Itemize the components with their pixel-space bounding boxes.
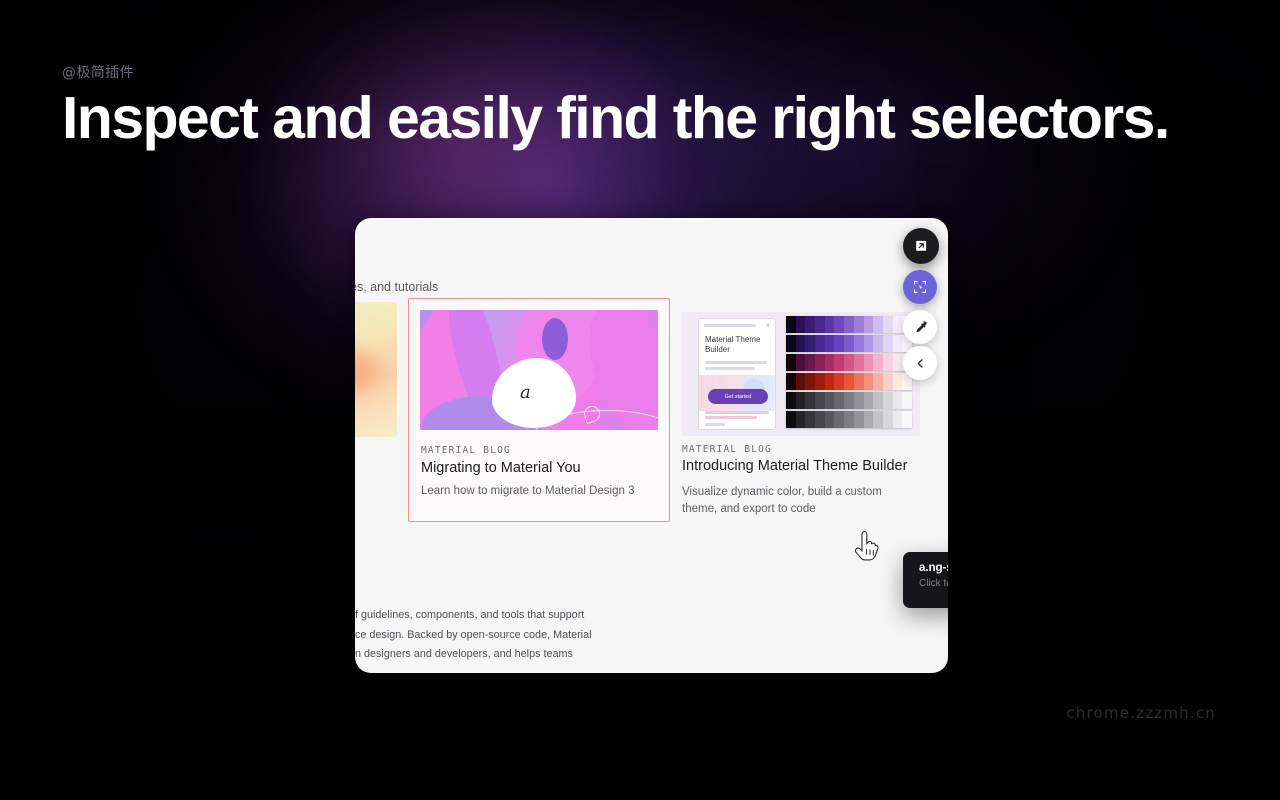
palette-swatch [834,392,844,409]
palette-swatch [844,354,854,371]
palette-swatch [873,373,883,390]
card-introducing-material-theme-builder[interactable]: ✕ Material Theme Builder Get started MAT… [682,298,920,528]
palette-swatch [844,373,854,390]
collapse-button[interactable] [903,346,937,380]
panel-inner: es, and tutorials n a MATERIAL BLOG Migr… [355,218,948,673]
palette-swatch [834,411,844,428]
card-title: Introducing Material Theme Builder [682,458,907,474]
palette-swatch [815,411,825,428]
palette-swatch [864,335,874,352]
palette-ramp-neutral-gray-1 [786,392,912,409]
palette-swatch [893,354,903,371]
phone-title: Material Theme Builder [705,335,775,355]
palette-ramp-violet-blue [786,335,912,352]
palette-swatch [786,316,796,333]
palette-swatch [873,392,883,409]
palette-swatch [844,411,854,428]
palette-swatch [805,411,815,428]
footer-line: ace design. Backed by open-source code, … [355,626,669,646]
palette-swatch [893,411,903,428]
page-title: Inspect and easily find the right select… [62,88,1242,150]
palette-swatch [893,373,903,390]
card-description: Learn how to migrate to Material Design … [421,485,635,497]
palette-swatch [854,354,864,371]
phone-topbar [704,324,756,327]
palette-swatch [834,335,844,352]
palette-swatch [873,354,883,371]
palette-swatch [796,392,806,409]
palette-swatch [786,373,796,390]
palette-swatch [883,354,893,371]
palette-swatch [902,392,912,409]
palette-swatch [873,316,883,333]
palette-swatch [834,373,844,390]
tooltip-selector-text: a.ng-star-inserted [919,561,948,574]
palette-swatch [844,316,854,333]
palette-swatch [864,392,874,409]
element-selector-icon [912,279,928,295]
palette-swatch [796,373,806,390]
card-title: Migrating to Material You [421,460,581,476]
footer-line: en designers and developers, and helps t… [355,645,669,665]
palette-swatch [786,411,796,428]
phone-text-line [705,416,757,419]
watermark-top: @极简插件 [62,62,1242,82]
palette-swatch [854,411,864,428]
palette-swatch [893,335,903,352]
palette-swatch [864,411,874,428]
palette-swatch [883,411,893,428]
phone-text-line [705,361,767,364]
palette-swatch [805,335,815,352]
palette-swatch [805,354,815,371]
card-left-clipped[interactable]: n [355,302,397,507]
card-right-thumbnail: ✕ Material Theme Builder Get started [682,312,920,436]
panel-subtitle: es, and tutorials [355,280,650,294]
palette-swatch [844,392,854,409]
palette-swatch [864,354,874,371]
palette-swatch [805,373,815,390]
palette-swatch [844,335,854,352]
palette-swatch [883,392,893,409]
card-selected-migrating-to-material-you[interactable]: a MATERIAL BLOG Migrating to Material Yo… [408,298,670,522]
palette-swatch [864,373,874,390]
palette-swatch [825,411,835,428]
palette-swatch [815,392,825,409]
card-left-thumbnail [355,302,397,437]
palette-swatch [796,411,806,428]
panel-footer-paragraph: of guidelines, components, and tools tha… [355,606,669,665]
palette-swatch [805,392,815,409]
card-eyebrow: MATERIAL BLOG [682,444,772,455]
watermark-bottom: chrome.zzzmh.cn [1066,704,1216,722]
palette-swatch [825,354,835,371]
palette-swatch [786,354,796,371]
card-description: Visualize dynamic color, build a custom … [682,484,912,517]
illustration-white-blob [492,358,576,428]
palette-swatch [854,335,864,352]
palette-ramp-red-orange [786,373,912,390]
arrow-up-right-box-icon [913,238,929,254]
palette-swatch [825,335,835,352]
palette-swatch [873,335,883,352]
share-button[interactable] [903,228,939,264]
palette-swatch [815,335,825,352]
browser-panel: es, and tutorials n a MATERIAL BLOG Migr… [355,218,948,673]
palette-swatch [893,316,903,333]
chevron-left-icon [914,357,927,370]
palette-swatch [786,392,796,409]
phone-text-line [705,367,755,370]
card-row: n a MATERIAL BLOG Migrating to Material … [355,302,948,532]
palette-swatch [893,392,903,409]
palette-swatch [815,354,825,371]
phone-mockup: ✕ Material Theme Builder Get started [698,318,776,430]
palette-swatch [864,316,874,333]
palette-swatch [825,392,835,409]
color-picker-button[interactable] [903,310,937,344]
illustration-shape [542,318,568,360]
palette-swatch [834,316,844,333]
eyedropper-icon [913,320,928,335]
palette-swatch [805,316,815,333]
palette-swatch [873,411,883,428]
phone-text-line [705,411,769,414]
palette-swatch [786,335,796,352]
palette-swatch [883,335,893,352]
phone-cta-button: Get started [708,389,768,404]
palette-swatch [825,316,835,333]
illustration-letter-a: a [520,382,531,403]
palette-swatch [815,316,825,333]
palette-swatch [815,373,825,390]
headline-block: @极简插件 Inspect and easily find the right … [62,62,1242,150]
card-selected-thumbnail: a [420,310,658,430]
palette-swatch [796,335,806,352]
phone-text-line [705,423,725,426]
selector-tooltip: a.ng-star-inserted Click to copy selecto… [903,552,948,608]
palette-swatch [883,373,893,390]
color-palette-grid [786,316,912,432]
palette-ramp-magenta-pink [786,354,912,371]
palette-ramp-indigo-violet [786,316,912,333]
palette-swatch [796,354,806,371]
tooltip-hint-text: Click to copy selector [919,578,948,589]
inspector-tool-rail [903,228,941,380]
pointer-hand-icon [852,531,880,563]
palette-swatch [796,316,806,333]
palette-ramp-neutral-gray-2 [786,411,912,428]
palette-swatch [834,354,844,371]
palette-swatch [902,411,912,428]
palette-swatch [854,373,864,390]
card-eyebrow: MATERIAL BLOG [421,445,511,456]
palette-swatch [883,316,893,333]
palette-swatch [825,373,835,390]
select-element-button[interactable] [903,270,937,304]
footer-line: of guidelines, components, and tools tha… [355,606,669,626]
palette-swatch [854,392,864,409]
palette-swatch [854,316,864,333]
close-icon: ✕ [766,323,770,329]
